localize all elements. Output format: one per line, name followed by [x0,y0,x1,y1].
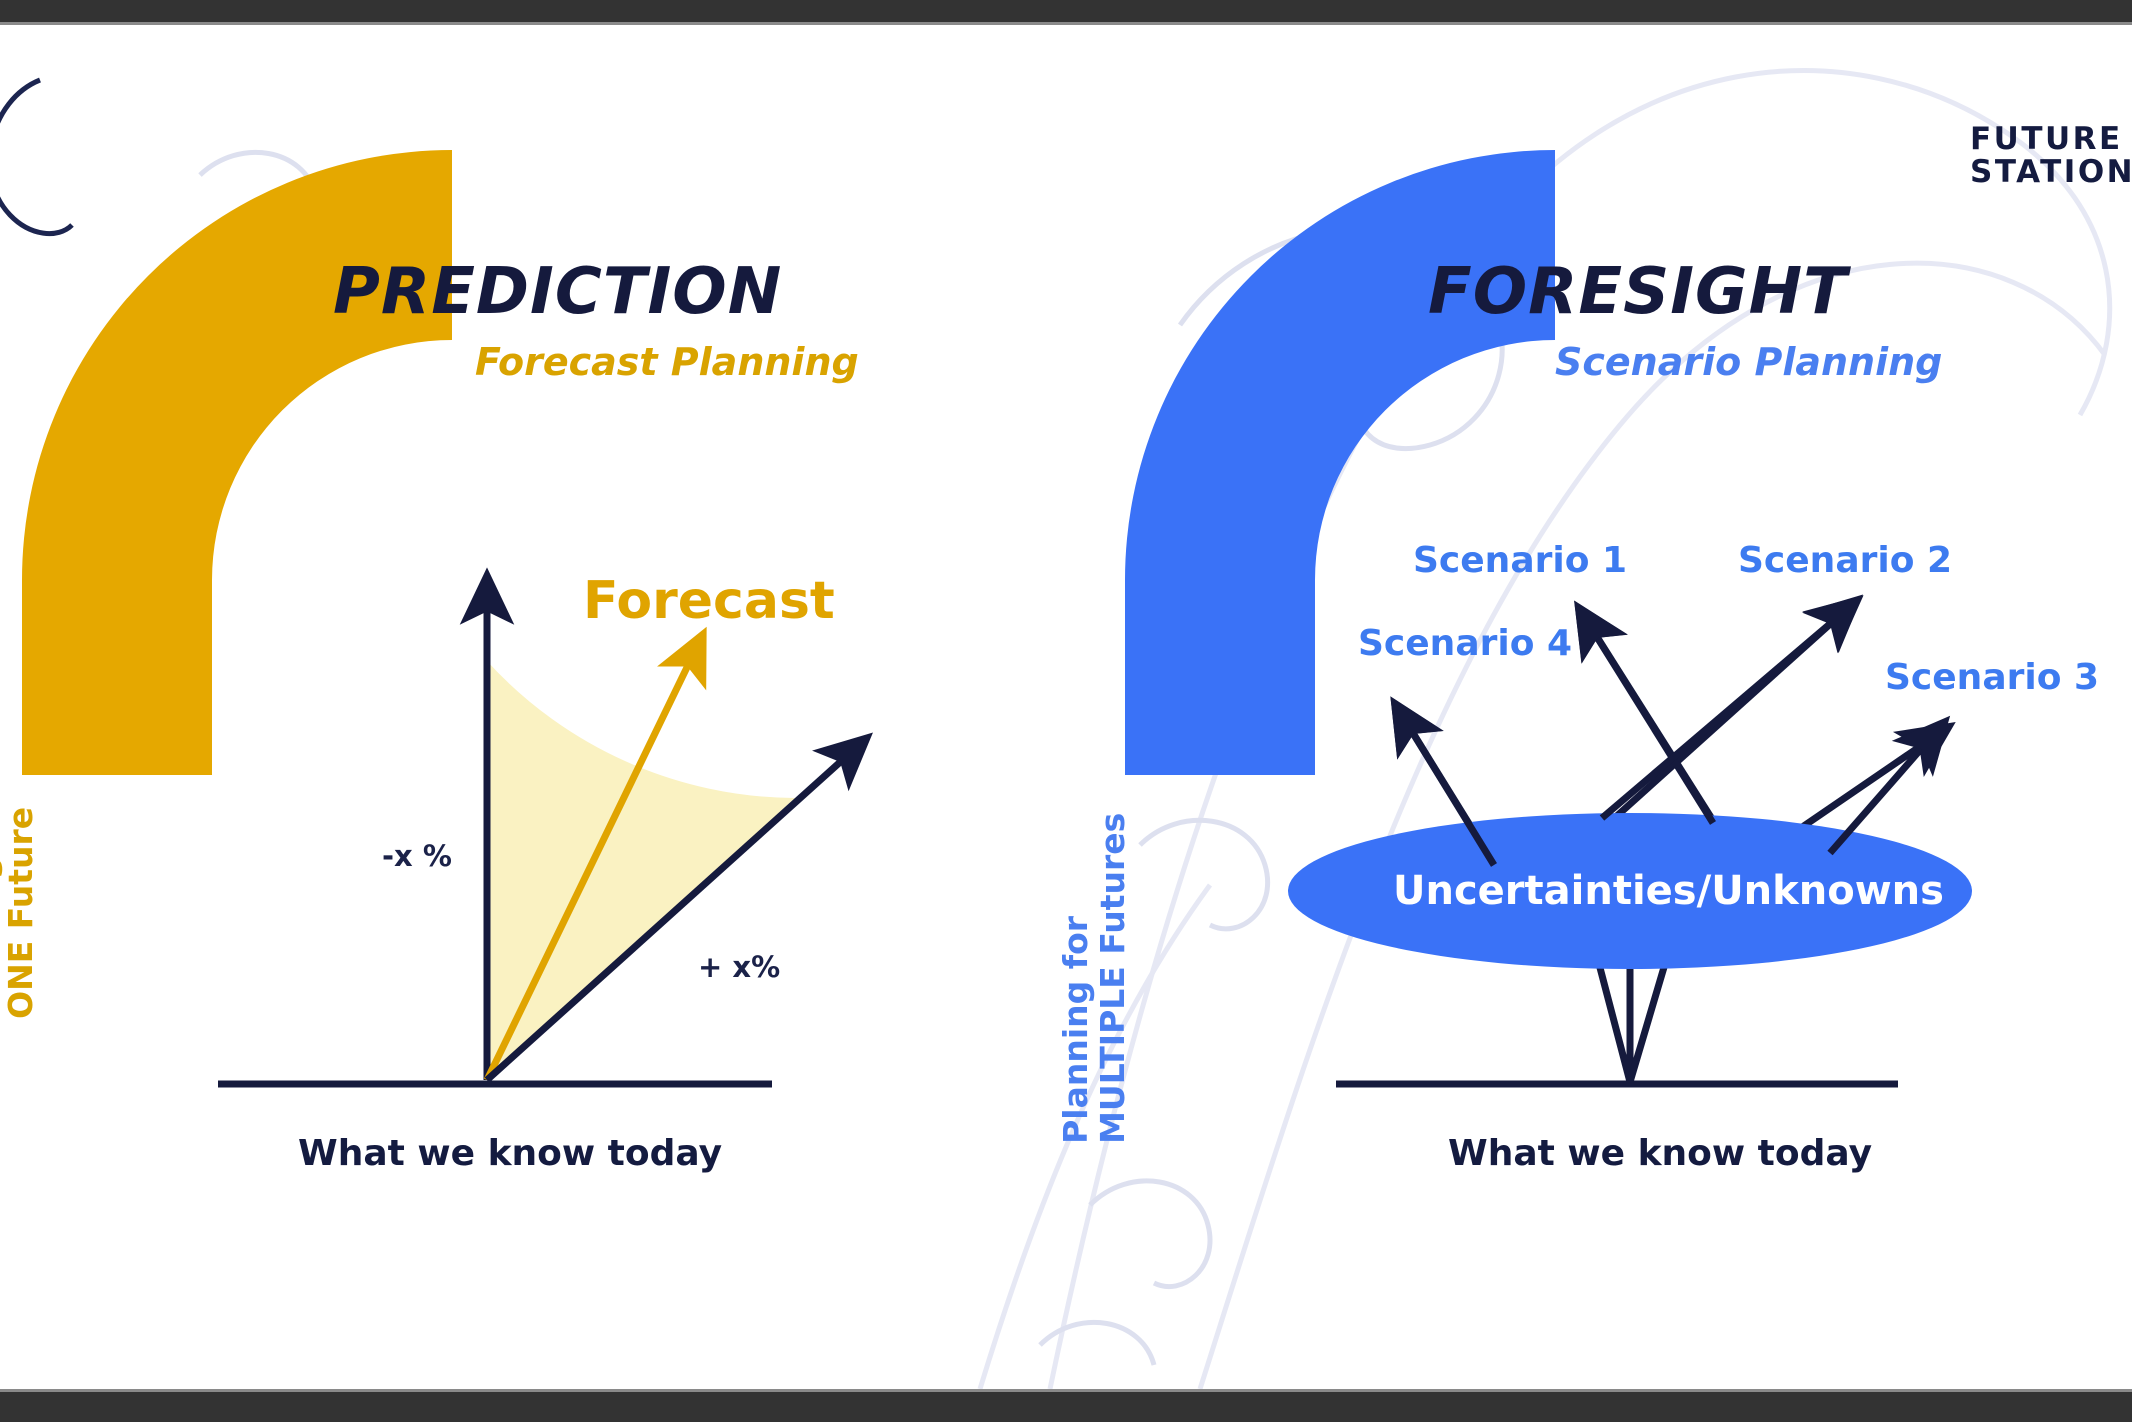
background-swirls [0,25,2132,1389]
scenario-1-arrow [1592,629,1762,898]
forecast-cone-fill [487,661,795,1080]
slide-canvas: PREDICTION Forecast Planning Planning fo… [0,25,2132,1389]
scenario-2-label: Scenario 2 [1738,540,1952,581]
forecast-ray [487,657,692,1080]
lower-bound-label: + x% [698,950,780,984]
convergence-lines [1588,920,1678,1082]
prediction-subtitle: Forecast Planning [475,340,859,384]
window-chrome-bottom-bar [0,1389,2132,1422]
foresight-side-caption-line1: Planning for [1056,916,1095,1144]
logo-line-1: FUTURE [1970,123,2132,156]
prediction-chart [0,25,2132,1389]
lower-bound-ray [487,755,848,1080]
window-chrome-top-bar [0,0,2132,25]
prediction-title: PREDICTION [333,255,782,329]
prediction-side-caption-line2: ONE Future [1,807,40,1019]
scenario-3-label: Scenario 3 [1885,657,2099,698]
forecast-label: Forecast [583,571,835,631]
foresight-side-caption-line2: MULTIPLE Futures [1093,813,1132,1144]
scenario-1-label: Scenario 1 [1413,540,1627,581]
upper-bound-label: -x % [382,839,452,873]
scenario-4-label: Scenario 4 [1358,623,1572,664]
logo-line-2: STATION [1970,156,2132,189]
prediction-side-caption: Planning for ONE Future [0,791,40,1019]
future-station-logo[interactable]: FUTURE STATION [1970,123,2132,188]
foresight-arc [0,25,2132,1389]
foresight-chart [0,25,2132,1389]
prediction-arc [0,25,2132,1389]
foresight-side-caption: Planning for MULTIPLE Futures [1058,813,1132,1144]
foresight-baseline-label: What we know today [1448,1133,1872,1174]
screenshot-stage: PREDICTION Forecast Planning Planning fo… [0,0,2132,1422]
foresight-title: FORESIGHT [1428,255,1848,329]
foresight-subtitle: Scenario Planning [1555,340,1942,384]
prediction-baseline-label: What we know today [298,1133,722,1174]
uncertainty-ellipse-label: Uncertainties/Unknowns [1393,868,1944,914]
